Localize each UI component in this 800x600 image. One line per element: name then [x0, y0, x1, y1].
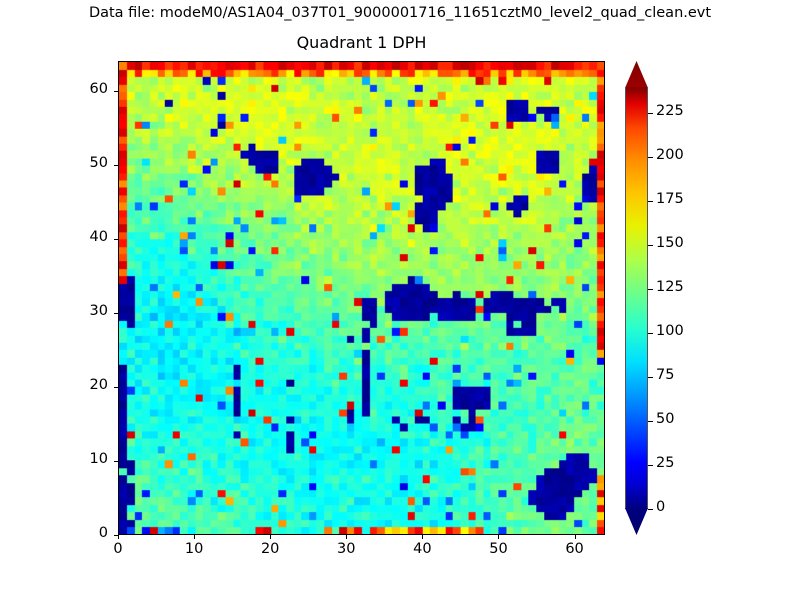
x-tick-label: 40 — [392, 541, 452, 557]
colorbar-tick-label: 225 — [656, 103, 684, 119]
colorbar-extend-min-arrow — [625, 508, 648, 535]
x-tick-mark — [498, 535, 499, 539]
x-tick-mark — [422, 535, 423, 539]
colorbar-tick-label: 0 — [656, 499, 665, 515]
colorbar-tick-mark — [648, 113, 653, 114]
colorbar-gradient — [625, 87, 648, 509]
figure-suptitle: Data file: modeM0/AS1A04_037T01_90000017… — [0, 5, 800, 21]
x-tick-mark — [118, 535, 119, 539]
colorbar-tick-label: 125 — [656, 279, 684, 295]
y-tick-label: 10 — [48, 451, 108, 467]
y-tick-label: 60 — [48, 81, 108, 97]
colorbar-tick-mark — [648, 333, 653, 334]
colorbar-tick-mark — [648, 509, 653, 510]
y-tick-label: 40 — [48, 229, 108, 245]
y-tick-mark — [114, 387, 118, 388]
x-tick-label: 60 — [545, 541, 605, 557]
heatmap-axes — [118, 61, 605, 535]
y-tick-mark — [114, 91, 118, 92]
colorbar — [625, 61, 648, 535]
colorbar-tick-mark — [648, 289, 653, 290]
x-tick-label: 0 — [88, 541, 148, 557]
colorbar-tick-mark — [648, 157, 653, 158]
colorbar-tick-mark — [648, 421, 653, 422]
y-tick-mark — [114, 461, 118, 462]
colorbar-tick-label: 50 — [656, 411, 674, 427]
colorbar-tick-mark — [648, 377, 653, 378]
y-tick-label: 50 — [48, 155, 108, 171]
x-tick-mark — [346, 535, 347, 539]
matplotlib-figure: Data file: modeM0/AS1A04_037T01_90000017… — [0, 0, 800, 600]
colorbar-tick-label: 25 — [656, 455, 674, 471]
colorbar-extend-max-arrow — [625, 61, 648, 88]
y-tick-mark — [114, 165, 118, 166]
y-tick-label: 20 — [48, 377, 108, 393]
y-tick-label: 30 — [48, 303, 108, 319]
y-tick-label: 0 — [48, 525, 108, 541]
x-tick-label: 20 — [240, 541, 300, 557]
x-tick-mark — [194, 535, 195, 539]
colorbar-tick-mark — [648, 245, 653, 246]
y-tick-mark — [114, 535, 118, 536]
colorbar-tick-label: 100 — [656, 323, 684, 339]
y-tick-mark — [114, 313, 118, 314]
colorbar-tick-label: 200 — [656, 147, 684, 163]
colorbar-tick-label: 175 — [656, 191, 684, 207]
x-tick-label: 10 — [164, 541, 224, 557]
y-tick-mark — [114, 239, 118, 240]
colorbar-tick-label: 75 — [656, 367, 674, 383]
axes-title: Quadrant 1 DPH — [118, 33, 605, 52]
colorbar-tick-mark — [648, 201, 653, 202]
x-tick-label: 30 — [316, 541, 376, 557]
x-tick-mark — [270, 535, 271, 539]
x-tick-label: 50 — [468, 541, 528, 557]
colorbar-tick-label: 150 — [656, 235, 684, 251]
x-tick-mark — [575, 535, 576, 539]
colorbar-tick-mark — [648, 465, 653, 466]
detector-heatmap-image — [119, 62, 604, 534]
